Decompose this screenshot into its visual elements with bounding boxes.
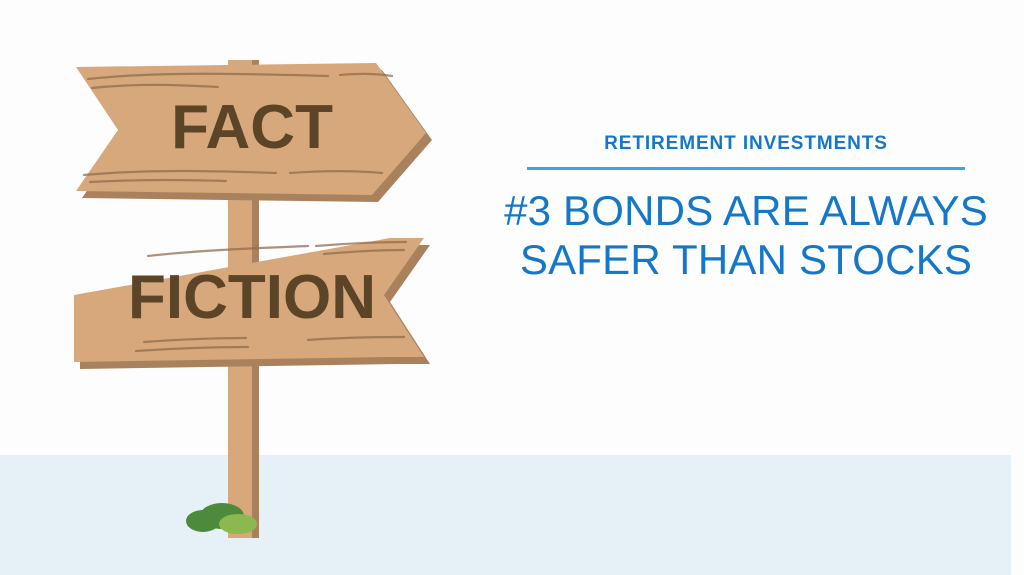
- headline-line-2: SAFER THAN STOCKS: [500, 235, 992, 284]
- divider-rule: [527, 167, 965, 170]
- sign-fiction-label: FICTION: [128, 263, 376, 332]
- headline: #3 BONDS ARE ALWAYS SAFER THAN STOCKS: [500, 186, 992, 284]
- text-block: RETIREMENT INVESTMENTS #3 BONDS ARE ALWA…: [500, 132, 992, 284]
- sign-fact-label: FACT: [171, 93, 333, 162]
- signpost-svg: FACT FICTION: [40, 40, 460, 540]
- headline-line-1: #3 BONDS ARE ALWAYS: [500, 186, 992, 235]
- signpost-illustration: FACT FICTION: [40, 40, 460, 540]
- sign-fact: FACT: [76, 63, 432, 202]
- eyebrow-label: RETIREMENT INVESTMENTS: [500, 132, 992, 156]
- slide-canvas: FACT FICTION: [0, 0, 1024, 575]
